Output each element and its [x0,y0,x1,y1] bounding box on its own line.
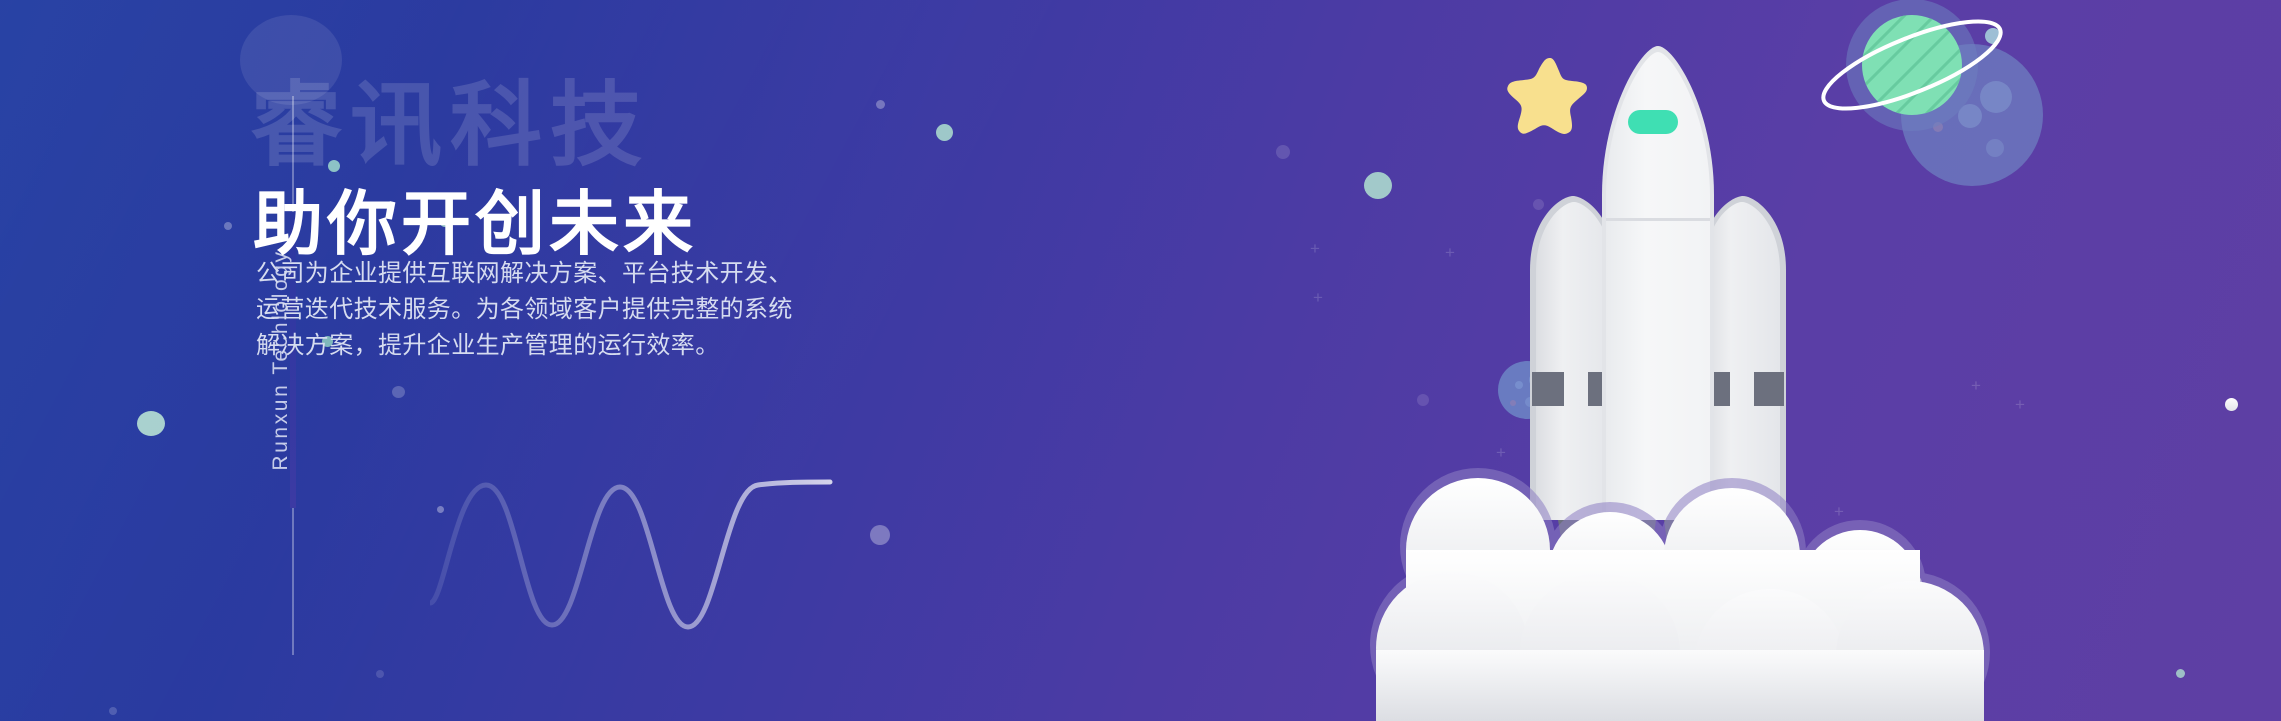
decor-dot [376,670,384,678]
decor-dot [870,525,890,545]
sparkle-plus-icon: + [1310,240,1320,257]
description-text: 公司为企业提供互联网解决方案、平台技术开发、运营迭代技术服务。为各领域客户提供完… [256,256,801,364]
sparkle-plus-icon: + [1971,377,1981,394]
page-title: 助你开创未来 [253,189,697,259]
decor-dot [392,386,405,398]
hero-banner: + + + + + + + [0,0,2281,721]
ghost-title: 睿讯科技 [250,80,650,172]
decor-dot [2176,669,2185,678]
sine-wave [430,455,860,655]
decor-dot [109,707,117,715]
rocket-window [1628,110,1678,134]
decor-dot [137,411,165,436]
sparkle-plus-icon: + [1313,289,1323,306]
decor-dot [936,124,953,141]
clouds [1360,400,2000,721]
sparkle-plus-icon: + [2015,396,2025,413]
decor-dot [2225,398,2238,411]
decor-dot [224,222,232,230]
decor-dot [1276,145,1290,159]
decor-dot [876,100,885,109]
